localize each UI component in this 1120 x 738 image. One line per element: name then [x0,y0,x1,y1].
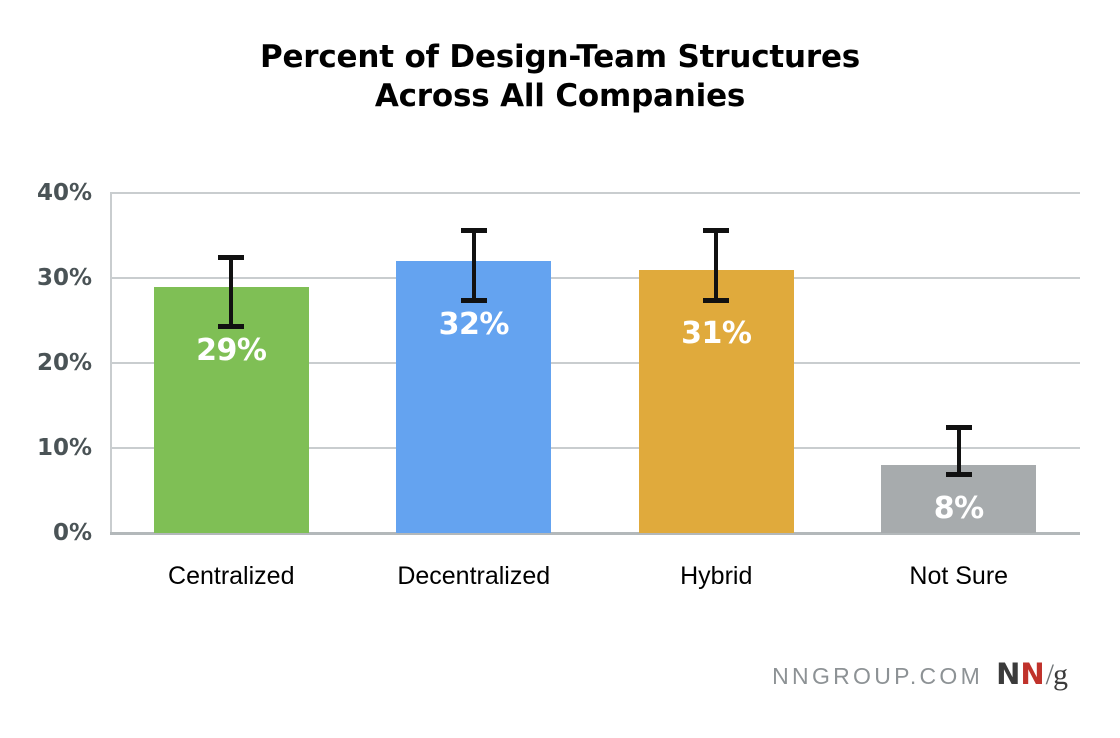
bar-value-label-hybrid: 31% [639,316,794,351]
error-bar-centralized [154,255,309,329]
x-axis-label-decentralized: Decentralized [353,562,596,591]
error-bar-whisker [472,228,476,303]
error-bar-not-sure [881,425,1036,477]
nng-mark-n1: N [996,657,1020,691]
chart-title-line-1: Percent of Design-Team Structures [0,38,1120,77]
error-bar-cap-bottom [218,324,244,329]
error-bar-cap-bottom [461,298,487,303]
nng-logo-mark: N N / g [996,657,1068,692]
error-bar-whisker [714,228,718,303]
bar-value-label-decentralized: 32% [396,307,551,342]
error-bar-hybrid [639,228,794,303]
y-axis-tick-label-40: 40% [2,180,92,206]
gridline-40 [110,192,1080,194]
x-axis-label-hybrid: Hybrid [595,562,838,591]
error-bar-cap-top [703,228,729,233]
chart-title-line-2: Across All Companies [0,77,1120,116]
y-axis-tick-label-0: 0% [2,520,92,546]
y-axis-tick-label-30: 30% [2,265,92,291]
error-bar-cap-top [218,255,244,260]
nng-mark-n2: N [1020,657,1044,691]
error-bar-cap-bottom [703,298,729,303]
nngroup-domain-text: NNGROUP.COM [772,663,983,690]
error-bar-cap-top [946,425,972,430]
error-bar-cap-bottom [946,472,972,477]
y-axis-tick-label-10: 10% [2,435,92,461]
error-bar-cap-top [461,228,487,233]
error-bar-whisker [229,255,233,329]
error-bar-decentralized [396,228,551,303]
plot-area: 29% 32% 31% 8% [110,193,1080,533]
bar-hybrid[interactable]: 31% [639,270,794,534]
nng-mark-g: g [1053,658,1068,692]
x-axis-label-centralized: Centralized [110,562,353,591]
nngroup-logo: NNGROUP.COM N N / g [772,657,1068,692]
y-axis-tick-label-20: 20% [2,350,92,376]
bar-value-label-not-sure: 8% [881,491,1036,526]
chart-title: Percent of Design-Team Structures Across… [0,38,1120,116]
x-axis-label-not-sure: Not Sure [838,562,1081,591]
bar-value-label-centralized: 29% [154,333,309,368]
error-bar-whisker [957,425,961,477]
